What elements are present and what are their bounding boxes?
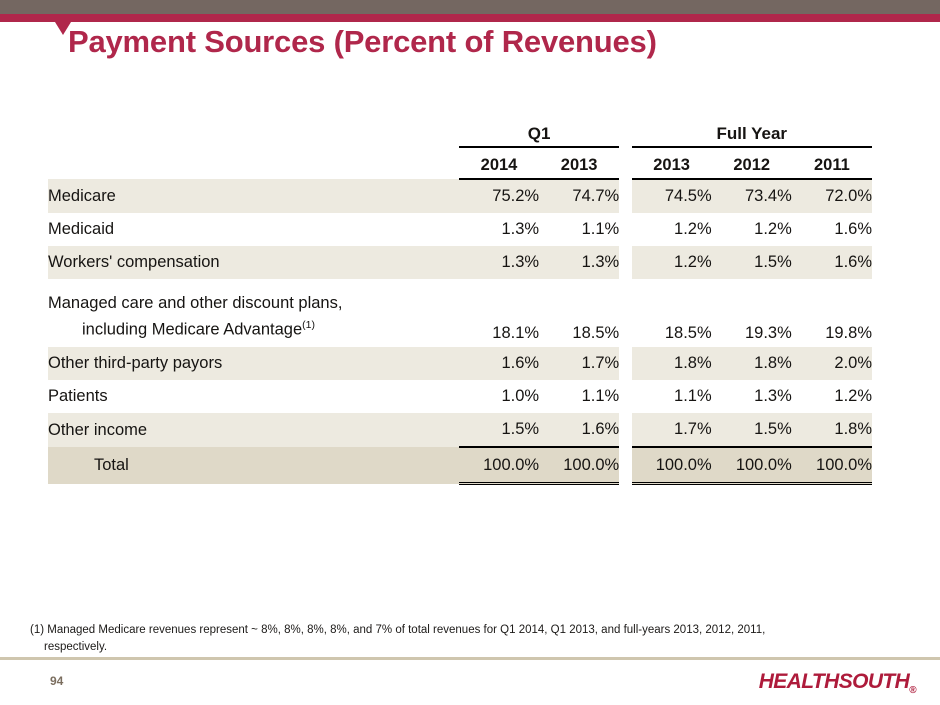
table-row: Patients 1.0% 1.1% 1.1% 1.3% 1.2% — [48, 380, 872, 413]
column-header-fy-2011: 2011 — [792, 147, 872, 179]
managed-care-line2: including Medicare Advantage(1) — [48, 317, 459, 343]
managed-care-line1: Managed care and other discount plans, — [48, 294, 342, 312]
column-header-q1-2014: 2014 — [459, 147, 539, 179]
healthsouth-logo: HEALTHSOUTH® — [759, 670, 916, 696]
cell-other-payors-fy-2011: 2.0% — [792, 347, 872, 380]
page-title: Payment Sources (Percent of Revenues) — [68, 24, 657, 60]
cell-workers-comp-q1-2014: 1.3% — [459, 246, 539, 279]
row-gap — [619, 447, 631, 484]
cell-other-income-fy-2013: 1.7% — [632, 413, 712, 447]
table-row: Other third-party payors 1.6% 1.7% 1.8% … — [48, 347, 872, 380]
group-header-full-year: Full Year — [632, 118, 872, 147]
top-taupe-bar — [0, 0, 940, 14]
row-gap — [619, 380, 631, 413]
cell-patients-fy-2011: 1.2% — [792, 380, 872, 413]
row-label-medicare: Medicare — [48, 179, 459, 213]
year-header-gap — [619, 147, 631, 179]
group-header-gap — [619, 118, 631, 147]
footnote-line2: respectively. — [30, 639, 920, 656]
footnote: (1) Managed Medicare revenues represent … — [30, 622, 920, 655]
year-header-spacer — [48, 147, 459, 179]
cell-total-q1-2013: 100.0% — [539, 447, 619, 484]
row-label-workers-compensation: Workers' compensation — [48, 246, 459, 279]
cell-workers-comp-q1-2013: 1.3% — [539, 246, 619, 279]
cell-medicaid-q1-2013: 1.1% — [539, 213, 619, 246]
cell-managed-care-q1-2013: 18.5% — [539, 279, 619, 347]
row-gap — [619, 179, 631, 213]
table-row: Medicare 75.2% 74.7% 74.5% 73.4% 72.0% — [48, 179, 872, 213]
cell-medicare-q1-2014: 75.2% — [459, 179, 539, 213]
cell-total-fy-2012: 100.0% — [712, 447, 792, 484]
cell-total-q1-2014: 100.0% — [459, 447, 539, 484]
cell-patients-fy-2013: 1.1% — [632, 380, 712, 413]
row-label-medicaid: Medicaid — [48, 213, 459, 246]
cell-patients-fy-2012: 1.3% — [712, 380, 792, 413]
cell-other-payors-q1-2014: 1.6% — [459, 347, 539, 380]
row-gap — [619, 213, 631, 246]
cell-medicare-q1-2013: 74.7% — [539, 179, 619, 213]
cell-workers-comp-fy-2013: 1.2% — [632, 246, 712, 279]
cell-managed-care-q1-2014: 18.1% — [459, 279, 539, 347]
managed-care-line2-text: including Medicare Advantage — [82, 320, 302, 338]
group-header-row: Q1 Full Year — [48, 118, 872, 147]
row-label-patients: Patients — [48, 380, 459, 413]
cell-other-income-q1-2014: 1.5% — [459, 413, 539, 447]
cell-workers-comp-fy-2011: 1.6% — [792, 246, 872, 279]
cell-managed-care-fy-2012: 19.3% — [712, 279, 792, 347]
cell-total-fy-2013: 100.0% — [632, 447, 712, 484]
payment-sources-table-wrap: Q1 Full Year 2014 2013 2013 2012 2011 Me… — [48, 118, 872, 485]
cell-other-payors-fy-2013: 1.8% — [632, 347, 712, 380]
cell-other-income-q1-2013: 1.6% — [539, 413, 619, 447]
row-label-other-third-party-payors: Other third-party payors — [48, 347, 459, 380]
cell-other-payors-q1-2013: 1.7% — [539, 347, 619, 380]
table-row: Medicaid 1.3% 1.1% 1.2% 1.2% 1.6% — [48, 213, 872, 246]
cell-medicare-fy-2013: 74.5% — [632, 179, 712, 213]
cell-other-income-fy-2011: 1.8% — [792, 413, 872, 447]
group-header-q1: Q1 — [459, 118, 619, 147]
cell-medicaid-fy-2013: 1.2% — [632, 213, 712, 246]
cell-other-income-fy-2012: 1.5% — [712, 413, 792, 447]
row-gap — [619, 246, 631, 279]
row-gap — [619, 413, 631, 447]
table-body: Medicare 75.2% 74.7% 74.5% 73.4% 72.0% M… — [48, 179, 872, 484]
cell-managed-care-fy-2013: 18.5% — [632, 279, 712, 347]
payment-sources-table: Q1 Full Year 2014 2013 2013 2012 2011 Me… — [48, 118, 872, 485]
row-label-managed-care: Managed care and other discount plans, i… — [48, 279, 459, 347]
row-gap — [619, 347, 631, 380]
cell-medicaid-fy-2012: 1.2% — [712, 213, 792, 246]
footer-divider — [0, 657, 940, 660]
table-row-total: Total 100.0% 100.0% 100.0% 100.0% 100.0% — [48, 447, 872, 484]
year-header-row: 2014 2013 2013 2012 2011 — [48, 147, 872, 179]
registered-mark: ® — [909, 685, 916, 696]
cell-patients-q1-2014: 1.0% — [459, 380, 539, 413]
table-row: Workers' compensation 1.3% 1.3% 1.2% 1.5… — [48, 246, 872, 279]
footnote-marker: (1) — [302, 319, 315, 331]
table-row: Other income 1.5% 1.6% 1.7% 1.5% 1.8% — [48, 413, 872, 447]
table-row: Managed care and other discount plans, i… — [48, 279, 872, 347]
row-gap — [619, 279, 631, 347]
cell-total-fy-2011: 100.0% — [792, 447, 872, 484]
row-label-total: Total — [48, 447, 459, 484]
cell-other-payors-fy-2012: 1.8% — [712, 347, 792, 380]
table-head: Q1 Full Year 2014 2013 2013 2012 2011 — [48, 118, 872, 179]
column-header-fy-2013: 2013 — [632, 147, 712, 179]
cell-managed-care-fy-2011: 19.8% — [792, 279, 872, 347]
cell-medicaid-fy-2011: 1.6% — [792, 213, 872, 246]
column-header-fy-2012: 2012 — [712, 147, 792, 179]
logo-text: HEALTHSOUTH — [759, 670, 910, 693]
cell-medicare-fy-2012: 73.4% — [712, 179, 792, 213]
page-number: 94 — [50, 674, 63, 688]
group-header-spacer — [48, 118, 459, 147]
cell-patients-q1-2013: 1.1% — [539, 380, 619, 413]
top-crimson-bar — [0, 14, 940, 22]
row-label-other-income: Other income — [48, 413, 459, 447]
footnote-line1: (1) Managed Medicare revenues represent … — [30, 624, 765, 636]
column-header-q1-2013: 2013 — [539, 147, 619, 179]
cell-medicare-fy-2011: 72.0% — [792, 179, 872, 213]
cell-medicaid-q1-2014: 1.3% — [459, 213, 539, 246]
cell-workers-comp-fy-2012: 1.5% — [712, 246, 792, 279]
